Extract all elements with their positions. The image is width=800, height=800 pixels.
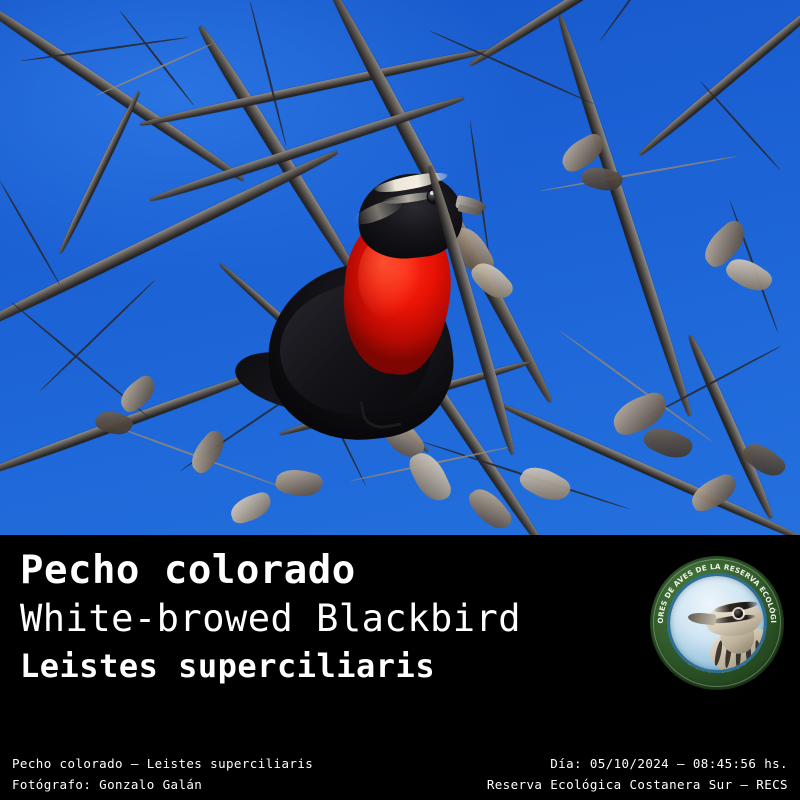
footer-bar: Pecho colorado – Leistes superciliaris F… bbox=[0, 740, 800, 800]
footer-right-block: Día: 05/10/2024 – 08:45:56 hs. Reserva E… bbox=[487, 753, 788, 795]
english-name-title: White-browed Blackbird bbox=[20, 595, 620, 643]
bird-photo-card: Pecho colorado White-browed Blackbird Le… bbox=[0, 0, 800, 800]
footer-photographer-line: Fotógrafo: Gonzalo Galán bbox=[12, 774, 313, 795]
coa-recs-logo: CLUB DE OBSERVADORES DE AVES DE LA RESER… bbox=[650, 556, 784, 690]
footer-datetime-line: Día: 05/10/2024 – 08:45:56 hs. bbox=[487, 753, 788, 774]
common-name-title: Pecho colorado bbox=[20, 547, 620, 595]
scientific-name-title: Leistes superciliaris bbox=[20, 643, 620, 689]
footer-species-line: Pecho colorado – Leistes superciliaris bbox=[12, 753, 313, 774]
footer-location-line: Reserva Ecológica Costanera Sur – RECS bbox=[487, 774, 788, 795]
white-browed-blackbird bbox=[232, 160, 492, 450]
footer-left-block: Pecho colorado – Leistes superciliaris F… bbox=[12, 753, 313, 795]
photograph bbox=[0, 0, 800, 535]
logo-inner-ring bbox=[667, 573, 767, 673]
caption-text-block: Pecho colorado White-browed Blackbird Le… bbox=[20, 547, 620, 689]
caption-panel: Pecho colorado White-browed Blackbird Le… bbox=[0, 535, 800, 740]
